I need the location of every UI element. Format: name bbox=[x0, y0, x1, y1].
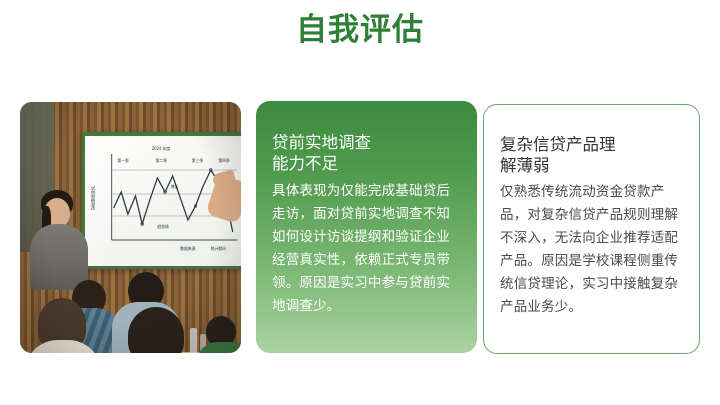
card-complex-credit-product: 复杂信贷产品理 解薄弱 仅熟悉传统流动资金贷款产品，对复杂信贷产品规则理解不深入… bbox=[483, 104, 700, 354]
card-body: 具体表现为仅能完成基础贷后走访，面对贷前实地调查不知如何设计访谈提纲和验证企业经… bbox=[272, 179, 461, 317]
card-title: 贷前实地调查 能力不足 bbox=[272, 133, 461, 175]
card-title-line2: 解薄弱 bbox=[500, 156, 683, 177]
card-pre-loan-survey: 贷前实地调查 能力不足 具体表现为仅能完成基础贷后走访，面对贷前实地调查不知如何… bbox=[256, 101, 477, 353]
photo-vignette bbox=[20, 102, 241, 353]
card-title-line1: 复杂信贷产品理 bbox=[500, 135, 683, 156]
classroom-photo: 2024 年度 第一季 第二季 第三季 第四季 增长 趋势线 数据来源 统计期间… bbox=[20, 102, 241, 353]
page-title: 自我评估 bbox=[0, 10, 720, 50]
card-title-line1: 贷前实地调查 bbox=[272, 133, 461, 154]
card-title-line2: 能力不足 bbox=[272, 154, 461, 175]
card-title: 复杂信贷产品理 解薄弱 bbox=[500, 135, 683, 177]
photo-scene: 2024 年度 第一季 第二季 第三季 第四季 增长 趋势线 数据来源 统计期间… bbox=[20, 102, 241, 353]
card-body: 仅熟悉传统流动资金贷款产品，对复杂信贷产品规则理解不深入，无法向企业推荐适配产品… bbox=[500, 180, 683, 318]
